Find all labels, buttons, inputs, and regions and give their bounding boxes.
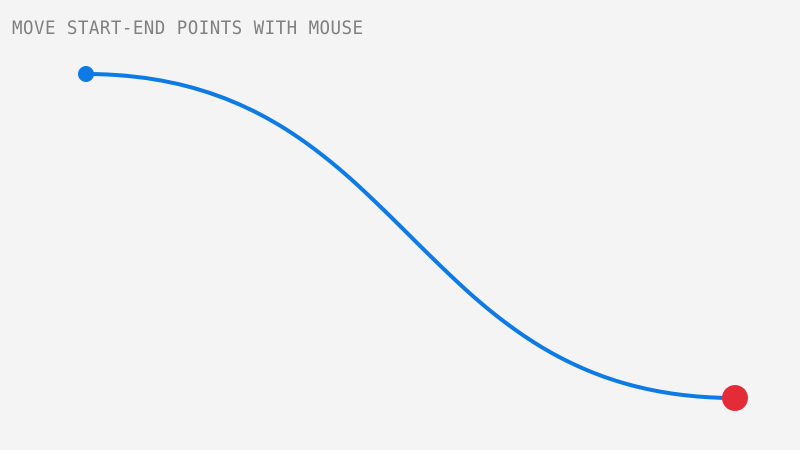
bezier-curve	[86, 74, 735, 398]
start-point-handle[interactable]	[78, 66, 94, 82]
curve-editor-app: MOVE START-END POINTS WITH MOUSE	[0, 0, 800, 450]
curve-canvas[interactable]	[0, 0, 800, 450]
end-point-handle[interactable]	[722, 385, 748, 411]
